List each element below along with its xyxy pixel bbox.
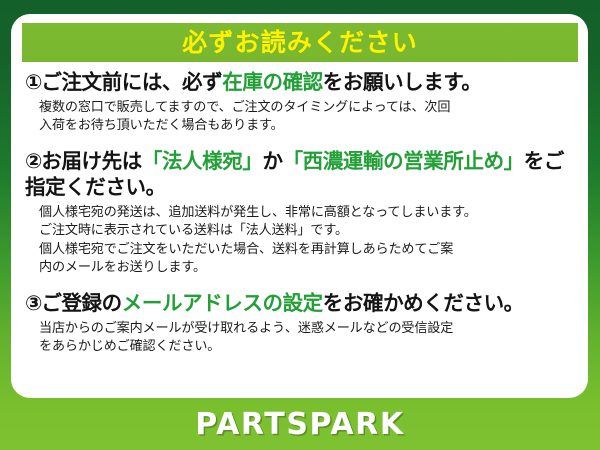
notice-item-2-body-line-2: ご注文時に表示されている送料は「法人送料」です。: [39, 222, 576, 241]
notice-item-2-body-line-3: 個人様宅宛でご注文をいただいた場合、送料を再計算しあらためてご案: [39, 241, 576, 260]
notice-item-2-body: 個人様宅宛の発送は、追加送料が発生し、非常に高額となってしまいます。 ご注文時に…: [25, 204, 576, 278]
notice-item-3-body: 当店からのご案内メールが受け取れるよう、迷惑メールなどの受信設定 をあらかじめご…: [25, 320, 576, 357]
notice-card: 必ずお読みください ①ご注文前には、必ず在庫の確認をお願いします。 複数の窓口で…: [11, 14, 588, 398]
notice-item-1-heading-pre: ご注文前には、必ず: [41, 70, 222, 94]
notice-item-3-heading-pre: ご登録の: [41, 291, 121, 315]
notice-item-1: ①ご注文前には、必ず在庫の確認をお願いします。 複数の窓口で販売してますので、ご…: [25, 70, 576, 136]
notice-item-3-heading-post: をお確かめください。: [323, 291, 524, 315]
notice-item-3-body-line-1: 当店からのご案内メールが受け取れるよう、迷惑メールなどの受信設定: [39, 320, 576, 339]
page-title: 必ずお読みください: [182, 30, 418, 55]
header-bar: 必ずお読みください: [22, 23, 578, 62]
notice-item-2-heading-mid: か: [262, 149, 282, 173]
notice-item-3: ③ご登録のメールアドレスの設定をお確かめください。 当店からのご案内メールが受け…: [25, 291, 576, 357]
notice-item-2-heading-pre: お届け先は: [41, 149, 142, 173]
notice-item-1-body-line-1: 複数の窓口で販売してますので、ご注文のタイミングによっては、次回: [39, 99, 576, 118]
notice-item-3-body-line-2: をあらかじめご確認ください。: [39, 338, 576, 357]
notice-item-1-heading-post: をお願いします。: [323, 70, 482, 94]
notice-list: ①ご注文前には、必ず在庫の確認をお願いします。 複数の窓口で販売してますので、ご…: [11, 70, 588, 357]
notice-item-1-number: ①: [25, 70, 41, 94]
notice-item-2: ②お届け先は「法人様宛」か「西濃運輸の営業所止め」をご指定ください。 個人様宅宛…: [25, 149, 576, 278]
notice-item-2-heading: ②お届け先は「法人様宛」か「西濃運輸の営業所止め」をご指定ください。: [25, 149, 576, 201]
notice-item-1-heading-accent: 在庫の確認: [222, 70, 323, 94]
notice-item-2-heading-accent-2: 「西濃運輸の営業所止め」: [283, 149, 524, 173]
notice-item-3-heading-accent: メールアドレスの設定: [122, 291, 323, 315]
footer-brand-bar: PARTSPARK: [0, 400, 600, 450]
notice-item-3-number: ③: [25, 291, 41, 315]
notice-item-2-body-line-4: 内のメールをお送りします。: [39, 259, 576, 278]
notice-item-1-body-line-2: 入荷をお待ち頂いただく場合もあります。: [39, 117, 576, 136]
brand-logo-text: PARTSPARK: [195, 410, 404, 440]
notice-item-2-heading-accent: 「法人様宛」: [142, 149, 263, 173]
notice-item-2-number: ②: [25, 149, 41, 173]
notice-banner: 必ずお読みください ①ご注文前には、必ず在庫の確認をお願いします。 複数の窓口で…: [0, 0, 600, 450]
notice-item-2-body-line-1: 個人様宅宛の発送は、追加送料が発生し、非常に高額となってしまいます。: [39, 204, 576, 223]
notice-item-1-body: 複数の窓口で販売してますので、ご注文のタイミングによっては、次回 入荷をお待ち頂…: [25, 99, 576, 136]
notice-item-1-heading: ①ご注文前には、必ず在庫の確認をお願いします。: [25, 70, 576, 96]
notice-item-3-heading: ③ご登録のメールアドレスの設定をお確かめください。: [25, 291, 576, 317]
